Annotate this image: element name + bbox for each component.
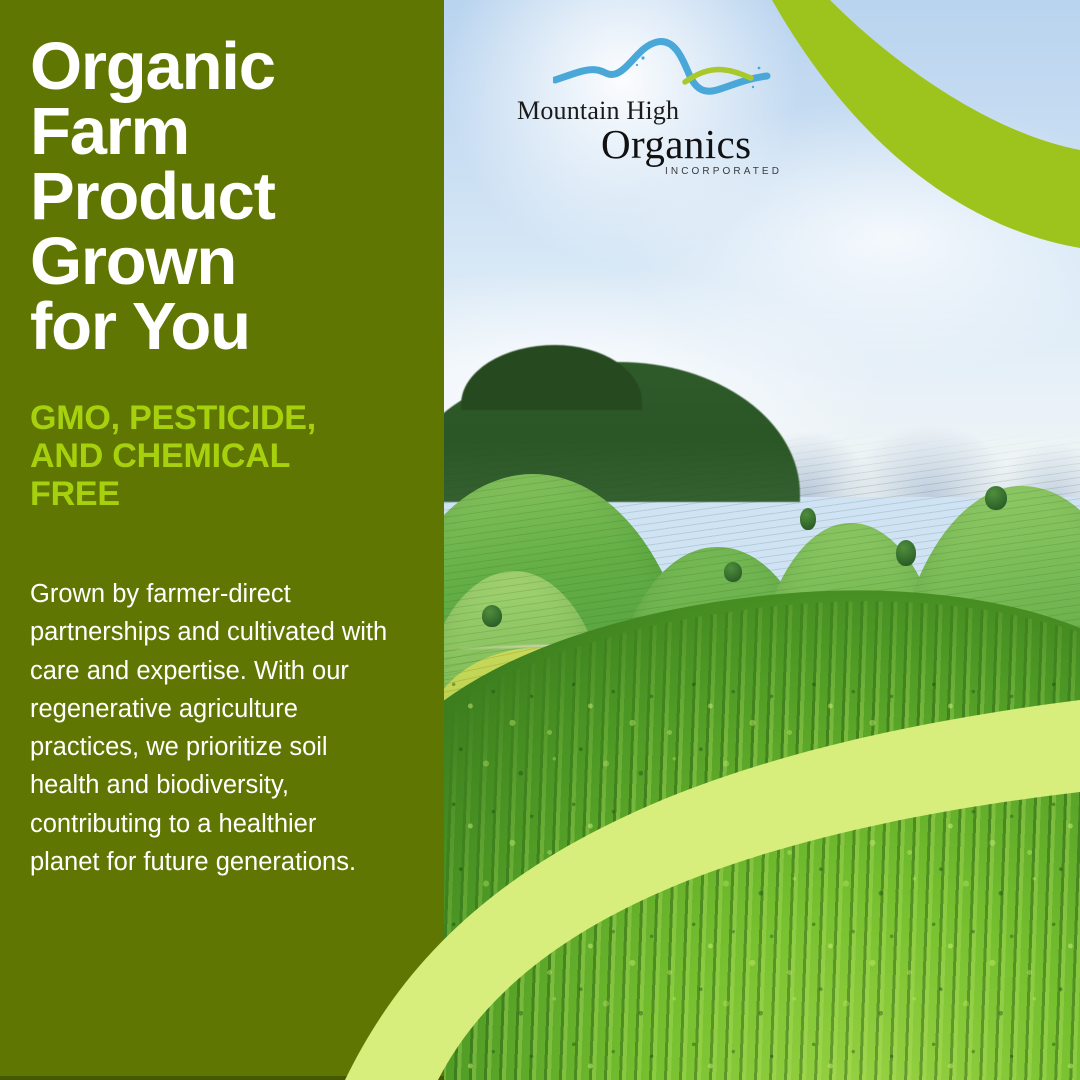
text-content-block: Organic Farm Product Grown for You GMO, … [30,0,430,1080]
poster-canvas: Organic Farm Product Grown for You GMO, … [0,0,1080,1080]
subheading: GMO, PESTICIDE, AND CHEMICAL FREE [30,359,430,513]
brand-logo: Mountain High Organics INCORPORATED [505,34,775,179]
tree [724,562,742,582]
logo-line-incorporated: INCORPORATED [665,166,782,177]
logo-line-organics: Organics [601,120,751,168]
tree [896,540,916,566]
tree [800,508,816,530]
mountain-brushstroke-icon [553,34,773,104]
tree [985,486,1007,510]
tea-leaf-texture [444,670,1080,1080]
page-title: Organic Farm Product Grown for You [30,0,430,359]
body-paragraph: Grown by farmer-direct partnerships and … [30,513,390,881]
